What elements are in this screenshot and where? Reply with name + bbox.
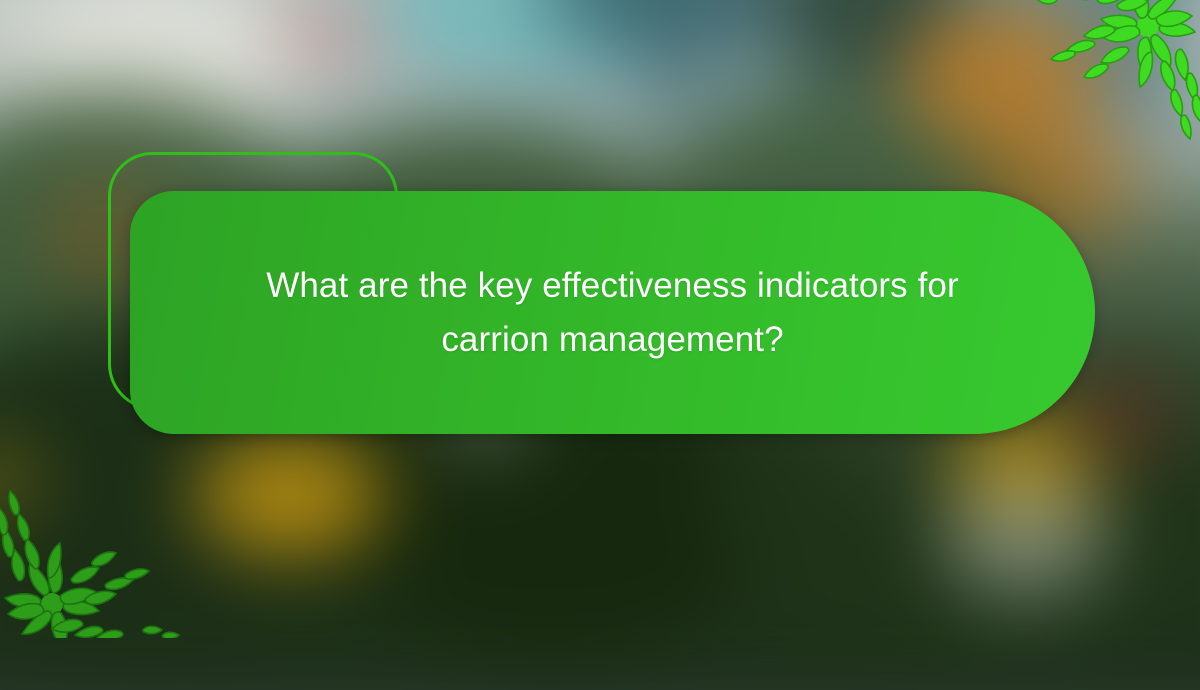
- background-red-blob: [1070, 370, 1180, 460]
- background-pink-blob: [270, 0, 390, 70]
- background-yellow-flower-blob: [195, 435, 385, 555]
- question-text: What are the key effectiveness indicator…: [213, 259, 1013, 365]
- question-card: What are the key effectiveness indicator…: [130, 191, 1095, 434]
- background-post-blob: [660, 0, 690, 130]
- background-white-blob: [940, 480, 1110, 600]
